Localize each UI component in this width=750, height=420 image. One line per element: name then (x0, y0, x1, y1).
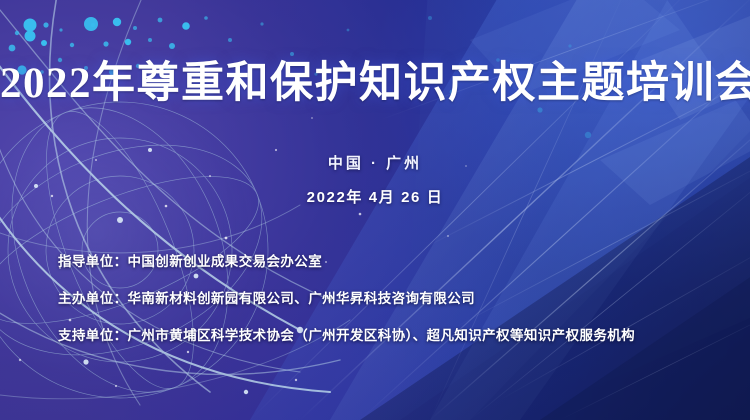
event-banner: 2022年尊重和保护知识产权主题培训会 中国 · 广州 2022年 4月 26 … (0, 0, 750, 420)
organizer-host: 主办单位：华南新材料创新园有限公司、广州华昇科技咨询有限公司 (58, 287, 635, 307)
organizer-guidance: 指导单位：中国创新创业成果交易会办公室 (58, 250, 635, 270)
organizer-list: 指导单位：中国创新创业成果交易会办公室 主办单位：华南新材料创新园有限公司、广州… (58, 250, 635, 344)
event-date: 2022年 4月 26 日 (0, 186, 750, 207)
page-title: 2022年尊重和保护知识产权主题培训会 (0, 62, 750, 105)
organizer-support: 支持单位：广州市黄埔区科学技术协会（广州开发区科协）、超凡知识产权等知识产权服务… (58, 324, 635, 344)
event-location: 中国 · 广州 (0, 152, 750, 173)
